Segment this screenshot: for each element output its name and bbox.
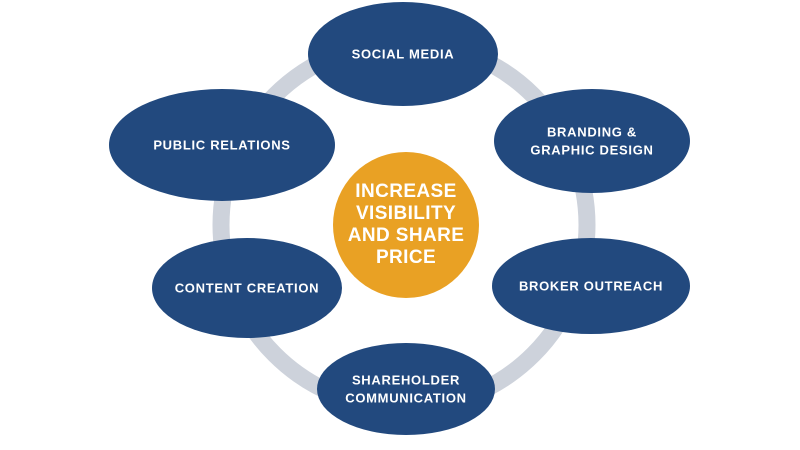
node-broker-outreach[interactable]: BROKER OUTREACH [492,238,690,334]
node-branding-and-graphic-design[interactable]: BRANDING & GRAPHIC DESIGN [494,89,690,193]
node-broker-outreach-label: BROKER OUTREACH [519,278,663,293]
node-social-media[interactable]: SOCIAL MEDIA [308,2,498,106]
hub-label-line-1: INCREASE [355,181,456,202]
node-shareholder-communication[interactable]: SHAREHOLDER COMMUNICATION [317,343,495,435]
hub-label-line-4: PRICE [376,247,436,268]
node-content-creation-label: CONTENT CREATION [175,280,320,295]
node-content-creation[interactable]: CONTENT CREATION [152,238,342,338]
hub-increase-visibility-and-share-price[interactable]: INCREASE VISIBILITY AND SHARE PRICE [333,152,479,298]
node-shareholder-communication-label-line-1: SHAREHOLDER [352,372,460,387]
node-branding-and-graphic-design-label-line-1: BRANDING & [547,124,637,139]
node-social-media-label: SOCIAL MEDIA [352,46,455,61]
node-public-relations[interactable]: PUBLIC RELATIONS [109,89,335,201]
cycle-diagram-canvas: PUBLIC RELATIONS SOCIAL MEDIA BRANDING &… [0,0,800,450]
node-public-relations-label: PUBLIC RELATIONS [153,137,290,152]
hub-label-line-3: AND SHARE [348,225,465,246]
node-branding-and-graphic-design-label-line-2: GRAPHIC DESIGN [530,142,653,157]
hub-label-line-2: VISIBILITY [356,203,456,224]
node-shareholder-communication-shape [317,343,495,435]
node-branding-and-graphic-design-shape [494,89,690,193]
cycle-diagram: PUBLIC RELATIONS SOCIAL MEDIA BRANDING &… [0,0,800,450]
node-shareholder-communication-label-line-2: COMMUNICATION [345,390,467,405]
